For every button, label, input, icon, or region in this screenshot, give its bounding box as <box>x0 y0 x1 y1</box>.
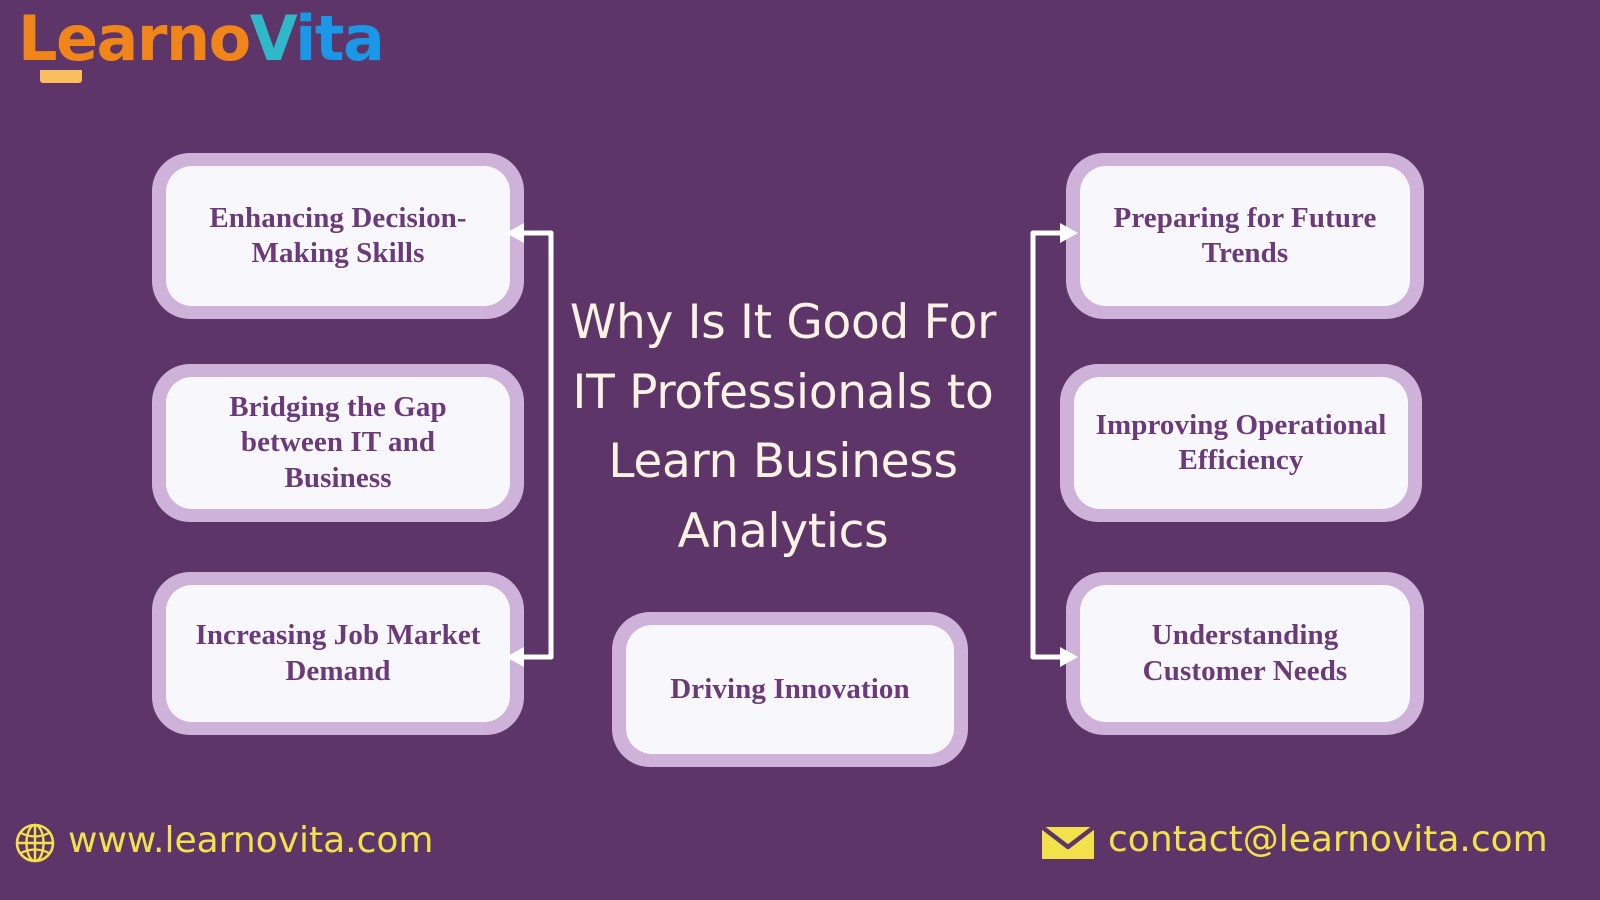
card-understanding-customer-needs[interactable]: Understanding Customer Needs <box>1066 572 1424 735</box>
brand-logo: LearnoVita <box>18 8 383 70</box>
card-inner: Enhancing Decision-Making Skills <box>166 166 510 306</box>
card-enhancing-decision-making-skills[interactable]: Enhancing Decision-Making Skills <box>152 153 524 319</box>
infographic-canvas: LearnoVita Why Is It Good For IT Profess… <box>0 0 1600 900</box>
card-label: Understanding Customer Needs <box>1098 618 1392 688</box>
page-title: Why Is It Good For IT Professionals to L… <box>548 288 1018 566</box>
card-improving-operational-efficiency[interactable]: Improving Operational Efficiency <box>1060 364 1422 522</box>
logo-text-ita: ita <box>295 2 383 75</box>
card-label: Bridging the Gap between IT and Business <box>184 390 492 495</box>
card-label: Enhancing Decision-Making Skills <box>184 201 492 271</box>
globe-icon <box>14 822 56 864</box>
logo-text-v: V <box>250 2 295 75</box>
card-inner: Driving Innovation <box>626 625 954 754</box>
card-label: Improving Operational Efficiency <box>1092 408 1390 478</box>
card-inner: Preparing for Future Trends <box>1080 166 1410 306</box>
card-label: Increasing Job Market Demand <box>184 618 492 688</box>
footer-email-text: contact@learnovita.com <box>1108 822 1548 862</box>
card-driving-innovation[interactable]: Driving Innovation <box>612 612 968 767</box>
card-inner: Understanding Customer Needs <box>1080 585 1410 722</box>
footer-website[interactable]: www.learnovita.com <box>14 822 434 864</box>
card-label: Preparing for Future Trends <box>1098 201 1392 271</box>
footer-website-text: www.learnovita.com <box>68 823 434 863</box>
card-inner: Bridging the Gap between IT and Business <box>166 377 510 509</box>
envelope-icon <box>1040 822 1096 862</box>
card-inner: Improving Operational Efficiency <box>1074 377 1408 509</box>
card-increasing-job-market-demand[interactable]: Increasing Job Market Demand <box>152 572 524 735</box>
card-label: Driving Innovation <box>670 672 910 707</box>
bracket-arrow-left-icon <box>496 210 576 680</box>
card-preparing-for-future-trends[interactable]: Preparing for Future Trends <box>1066 153 1424 319</box>
card-inner: Increasing Job Market Demand <box>166 585 510 722</box>
logo-text-learno: Learno <box>18 2 250 75</box>
bracket-arrow-right-icon <box>1008 210 1088 680</box>
card-bridging-the-gap-between-it-and-business[interactable]: Bridging the Gap between IT and Business <box>152 364 524 522</box>
logo-accent-bar <box>40 70 82 83</box>
footer-email[interactable]: contact@learnovita.com <box>1040 822 1548 862</box>
